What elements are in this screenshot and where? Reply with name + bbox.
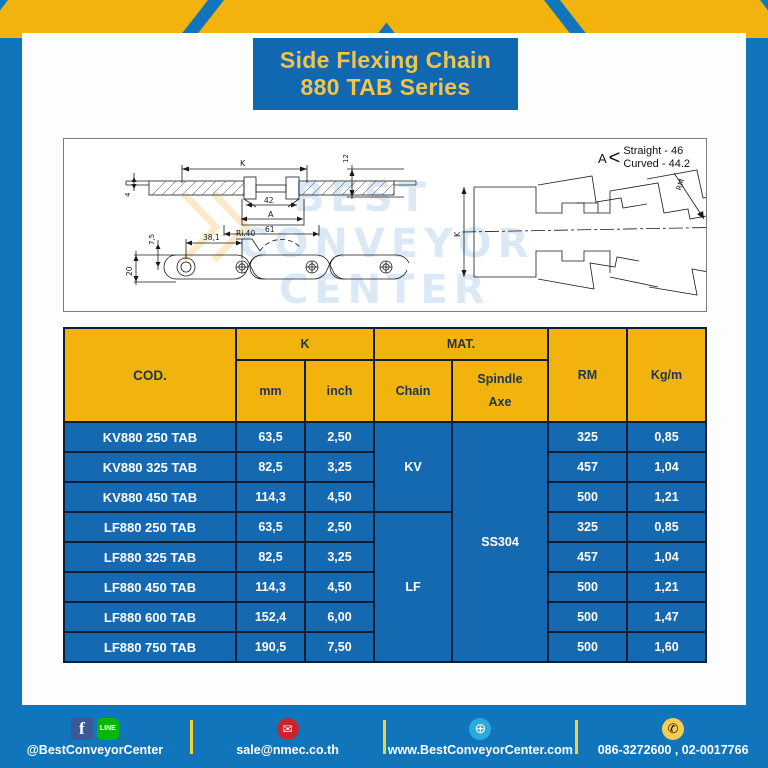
footer-website-label: www.BestConveyorCenter.com [388, 743, 573, 757]
cell-rm: 500 [548, 602, 627, 632]
cell-cod: LF880 325 TAB [64, 542, 236, 572]
header-k-mm: mm [236, 360, 305, 422]
callout-bracket-icon: < [609, 151, 621, 166]
cell-mm: 82,5 [236, 452, 305, 482]
cell-mm: 114,3 [236, 482, 305, 512]
cell-kgm: 1,04 [627, 452, 706, 482]
cell-kgm: 1,47 [627, 602, 706, 632]
cell-inch: 2,50 [305, 422, 374, 452]
cell-cod: LF880 450 TAB [64, 572, 236, 602]
cell-inch: 6,00 [305, 602, 374, 632]
cell-kgm: 1,60 [627, 632, 706, 662]
cell-rm: 325 [548, 512, 627, 542]
svg-text:Ri.40: Ri.40 [236, 229, 255, 238]
svg-text:4: 4 [124, 192, 132, 197]
cell-rm: 457 [548, 542, 627, 572]
cell-spindle-axe: SS304 [452, 422, 548, 662]
footer-email-label: sale@nmec.co.th [236, 743, 339, 757]
callout-a: A < Straight - 46 Curved - 44.2 [598, 145, 690, 171]
cell-mm: 114,3 [236, 572, 305, 602]
cell-inch: 4,50 [305, 482, 374, 512]
table-header-row-1: COD. K MAT. RM Kg/m [64, 328, 706, 360]
cell-kgm: 0,85 [627, 422, 706, 452]
header-k: K [236, 328, 374, 360]
cell-mm: 63,5 [236, 422, 305, 452]
svg-text:42: 42 [264, 196, 274, 205]
cell-rm: 325 [548, 422, 627, 452]
facebook-icon[interactable]: f [71, 718, 93, 740]
cell-rm: 457 [548, 452, 627, 482]
footer-email[interactable]: ✉ sale@nmec.co.th [193, 717, 383, 757]
header-rm: RM [548, 328, 627, 422]
cell-mm: 190,5 [236, 632, 305, 662]
header-cod: COD. [64, 328, 236, 422]
svg-text:12: 12 [342, 154, 350, 163]
cell-cod: LF880 750 TAB [64, 632, 236, 662]
footer-facebook[interactable]: f LINE @BestConveyorCenter [0, 717, 190, 757]
callout-curved: Curved - 44.2 [623, 158, 690, 171]
svg-text:K: K [453, 231, 462, 237]
title-line-2: 880 TAB Series [301, 74, 471, 101]
svg-text:K: K [240, 159, 246, 168]
svg-text:A: A [268, 210, 274, 219]
globe-icon[interactable]: ⊕ [469, 718, 491, 740]
cell-inch: 3,25 [305, 452, 374, 482]
cell-mm: 152,4 [236, 602, 305, 632]
cell-inch: 3,25 [305, 542, 374, 572]
footer-phone[interactable]: ✆ 086-3272600 , 02-0017766 [578, 717, 768, 757]
cell-cod: KV880 250 TAB [64, 422, 236, 452]
footer-facebook-label: @BestConveyorCenter [27, 743, 164, 757]
cell-rm: 500 [548, 482, 627, 512]
header-kgm: Kg/m [627, 328, 706, 422]
callout-straight: Straight - 46 [623, 145, 690, 158]
cell-cod: KV880 450 TAB [64, 482, 236, 512]
header-axe: Axe [453, 391, 547, 414]
specification-table: COD. K MAT. RM Kg/m mm inch Chain Spindl… [63, 327, 707, 663]
cell-inch: 4,50 [305, 572, 374, 602]
technical-drawing-frame: BEST CONVEYOR CENTER [63, 138, 707, 312]
table-row[interactable]: KV880 250 TAB 63,5 2,50 KV SS304 325 0,8… [64, 422, 706, 452]
footer-phone-label: 086-3272600 , 02-0017766 [598, 743, 749, 757]
mail-icon[interactable]: ✉ [277, 718, 299, 740]
cell-cod: LF880 250 TAB [64, 512, 236, 542]
svg-text:61: 61 [265, 225, 275, 234]
cell-chain-kv: KV [374, 422, 452, 512]
cell-rm: 500 [548, 632, 627, 662]
cell-cod: KV880 325 TAB [64, 452, 236, 482]
svg-text:38,1: 38,1 [203, 233, 220, 242]
title-line-1: Side Flexing Chain [280, 47, 491, 74]
cell-chain-lf: LF [374, 512, 452, 662]
footer-bar: f LINE @BestConveyorCenter ✉ sale@nmec.c… [0, 705, 768, 768]
header-mat-chain: Chain [374, 360, 452, 422]
cell-kgm: 1,21 [627, 572, 706, 602]
cell-kgm: 1,04 [627, 542, 706, 572]
cell-kgm: 0,85 [627, 512, 706, 542]
cell-inch: 7,50 [305, 632, 374, 662]
footer-website[interactable]: ⊕ www.BestConveyorCenter.com [386, 717, 576, 757]
page-title: Side Flexing Chain 880 TAB Series [253, 38, 518, 110]
cell-mm: 63,5 [236, 512, 305, 542]
svg-text:7,5: 7,5 [148, 234, 156, 245]
svg-text:20: 20 [125, 266, 134, 276]
cell-rm: 500 [548, 572, 627, 602]
cell-kgm: 1,21 [627, 482, 706, 512]
line-icon[interactable]: LINE [97, 718, 119, 740]
header-mat: MAT. [374, 328, 548, 360]
phone-icon[interactable]: ✆ [662, 718, 684, 740]
header-spindle: Spindle [453, 368, 547, 391]
cell-mm: 82,5 [236, 542, 305, 572]
callout-label: A [598, 152, 607, 165]
cell-cod: LF880 600 TAB [64, 602, 236, 632]
cell-inch: 2,50 [305, 512, 374, 542]
header-mat-spindle-axe: Spindle Axe [452, 360, 548, 422]
table-row[interactable]: LF880 250 TAB 63,5 2,50 LF 325 0,85 [64, 512, 706, 542]
header-k-inch: inch [305, 360, 374, 422]
poster-page: Side Flexing Chain 880 TAB Series BEST C… [0, 0, 768, 768]
